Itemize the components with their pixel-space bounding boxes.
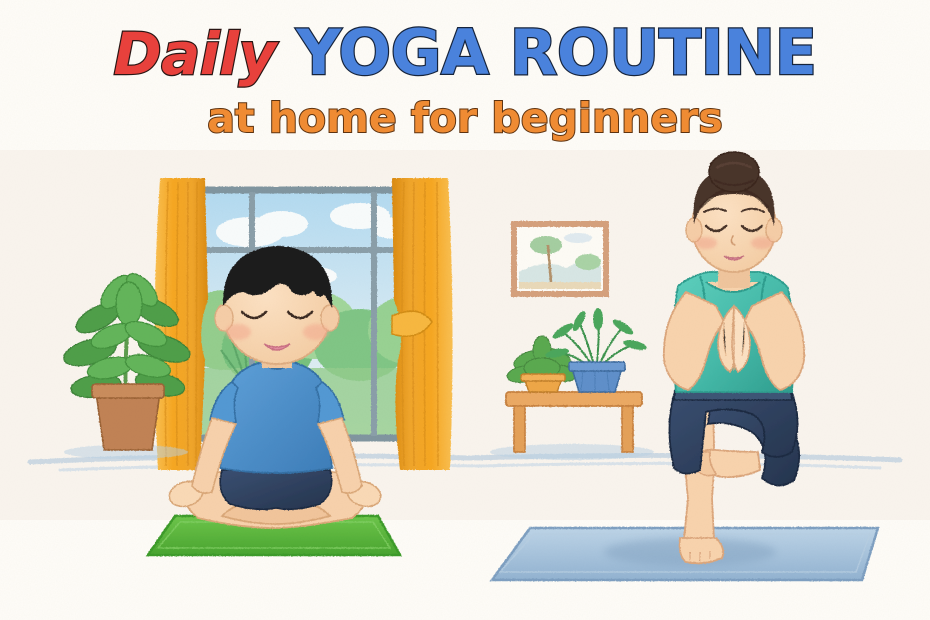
paper-grain-overlay [0,0,930,620]
poster-canvas: Daily YOGA ROUTINE at home for beginners [0,0,930,620]
scene-illustration [0,0,930,620]
